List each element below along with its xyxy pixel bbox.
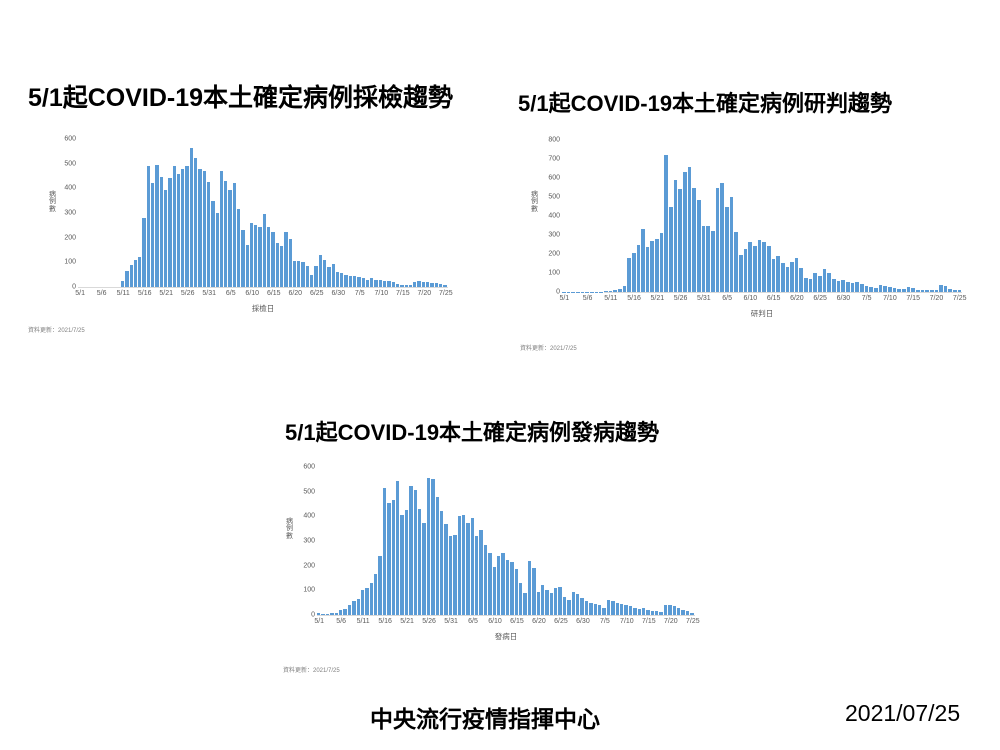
- bar: [443, 285, 447, 287]
- x-tick-label: 7/5: [600, 618, 610, 625]
- x-tick-label: 7/20: [930, 295, 944, 302]
- plot-sampling: [78, 139, 448, 288]
- y-tick-label: 400: [64, 185, 76, 192]
- x-tick-label: 6/25: [554, 618, 568, 625]
- y-tick-label: 400: [303, 513, 315, 520]
- x-tick-label: 6/15: [510, 618, 524, 625]
- y-tick-label: 300: [548, 232, 560, 239]
- x-tick-label: 5/21: [159, 290, 173, 297]
- slide-footer-organization: 中央流行疫情指揮中心: [370, 700, 600, 734]
- x-tick-label: 7/5: [862, 295, 872, 302]
- x-tick-label: 5/11: [117, 290, 130, 297]
- y-tick-label: 500: [548, 194, 560, 201]
- x-axis-label-determination: 研判日: [562, 308, 962, 319]
- footnote-determination: 資料更新：2021/7/25: [520, 343, 577, 352]
- y-tick-label: 600: [548, 175, 560, 182]
- x-tick-label: 7/5: [355, 290, 365, 297]
- chart-panel-onset: 5/1起COVID-19本土確定病例發病趨勢 病例數 0100200300400…: [265, 415, 745, 695]
- x-tick-label: 5/1: [559, 295, 569, 302]
- x-tick-label: 7/10: [620, 618, 634, 625]
- footnote-onset: 資料更新：2021/7/25: [283, 665, 340, 674]
- x-tick-label: 5/1: [75, 290, 85, 297]
- chart-title-determination: 5/1起COVID-19本土確定病例研判趨勢: [518, 86, 892, 118]
- x-tick-label: 5/11: [604, 295, 617, 302]
- x-tick-label: 6/10: [245, 290, 259, 297]
- x-tick-label: 6/10: [488, 618, 502, 625]
- y-tick-label: 100: [548, 270, 560, 277]
- x-tick-label: 6/5: [722, 295, 732, 302]
- x-tick-label: 5/1: [314, 618, 324, 625]
- chart-panel-determination: 5/1起COVID-19本土確定病例研判趨勢 病例數 0100200300400…: [508, 78, 988, 358]
- y-tick-label: 600: [303, 464, 315, 471]
- bar: [690, 613, 694, 615]
- x-axis-label-onset: 發病日: [317, 631, 695, 642]
- x-tick-label: 6/5: [226, 290, 236, 297]
- x-axis-ticks-sampling: 5/15/65/115/165/215/265/316/56/106/156/2…: [78, 288, 448, 300]
- bar-series-determination: [562, 140, 962, 292]
- x-tick-label: 7/25: [686, 618, 700, 625]
- x-tick-label: 5/16: [138, 290, 152, 297]
- x-tick-label: 6/25: [813, 295, 827, 302]
- x-tick-label: 5/6: [336, 618, 346, 625]
- x-tick-label: 5/31: [202, 290, 216, 297]
- x-tick-label: 5/6: [97, 290, 107, 297]
- y-tick-label: 200: [303, 562, 315, 569]
- x-tick-label: 6/25: [310, 290, 324, 297]
- y-tick-label: 800: [548, 137, 560, 144]
- y-tick-label: 500: [64, 160, 76, 167]
- y-tick-label: 300: [303, 538, 315, 545]
- y-tick-label: 400: [548, 213, 560, 220]
- x-tick-label: 7/10: [883, 295, 897, 302]
- x-tick-label: 6/20: [790, 295, 804, 302]
- footnote-sampling: 資料更新：2021/7/25: [28, 325, 85, 334]
- x-tick-label: 7/20: [664, 618, 678, 625]
- y-tick-label: 200: [548, 251, 560, 258]
- x-tick-label: 5/26: [181, 290, 195, 297]
- x-tick-label: 7/15: [642, 618, 656, 625]
- x-tick-label: 5/26: [422, 618, 436, 625]
- x-tick-label: 7/15: [906, 295, 920, 302]
- x-tick-label: 5/11: [357, 618, 370, 625]
- x-axis-ticks-determination: 5/15/65/115/165/215/265/316/56/106/156/2…: [562, 293, 962, 305]
- chart-title-onset: 5/1起COVID-19本土確定病例發病趨勢: [285, 415, 659, 447]
- chart-area-onset: 病例數 0100200300400500600 5/15/65/115/165/…: [275, 463, 705, 653]
- x-tick-label: 6/30: [837, 295, 851, 302]
- bar: [958, 290, 963, 292]
- x-tick-label: 7/15: [396, 290, 410, 297]
- y-tick-label: 300: [64, 210, 76, 217]
- x-tick-label: 6/5: [468, 618, 478, 625]
- x-tick-label: 7/25: [439, 290, 453, 297]
- y-axis-ticks-sampling: 0100200300400500600: [52, 139, 78, 287]
- x-tick-label: 6/30: [331, 290, 345, 297]
- slide-root: 5/1起COVID-19本土確定病例採檢趨勢 病例數 0100200300400…: [0, 0, 1000, 750]
- x-tick-label: 5/31: [697, 295, 711, 302]
- x-tick-label: 6/15: [767, 295, 781, 302]
- x-tick-label: 7/25: [953, 295, 967, 302]
- x-tick-label: 6/30: [576, 618, 590, 625]
- plot-onset: [317, 467, 695, 616]
- x-axis-ticks-onset: 5/15/65/115/165/215/265/316/56/106/156/2…: [317, 616, 695, 628]
- chart-area-determination: 病例數 0100200300400500600700800 5/15/65/11…: [528, 136, 978, 326]
- y-axis-ticks-determination: 0100200300400500600700800: [536, 140, 562, 292]
- x-tick-label: 7/20: [418, 290, 432, 297]
- x-tick-label: 6/10: [744, 295, 758, 302]
- x-tick-label: 5/16: [627, 295, 641, 302]
- y-tick-label: 200: [64, 234, 76, 241]
- x-tick-label: 6/20: [532, 618, 546, 625]
- y-tick-label: 700: [548, 156, 560, 163]
- y-axis-ticks-onset: 0100200300400500600: [291, 467, 317, 615]
- y-tick-label: 100: [64, 259, 76, 266]
- x-tick-label: 5/31: [444, 618, 458, 625]
- y-tick-label: 100: [303, 587, 315, 594]
- x-tick-label: 5/16: [378, 618, 392, 625]
- x-tick-label: 6/20: [288, 290, 302, 297]
- slide-footer-date: 2021/07/25: [845, 700, 960, 727]
- bar-series-sampling: [78, 139, 448, 287]
- x-tick-label: 5/21: [651, 295, 665, 302]
- y-tick-label: 600: [64, 136, 76, 143]
- y-tick-label: 500: [303, 488, 315, 495]
- x-axis-label-sampling: 採檢日: [78, 303, 448, 314]
- chart-title-sampling: 5/1起COVID-19本土確定病例採檢趨勢: [28, 78, 453, 114]
- x-tick-label: 5/21: [400, 618, 414, 625]
- chart-area-sampling: 病例數 0100200300400500600 5/15/65/115/165/…: [48, 133, 468, 323]
- bar-series-onset: [317, 467, 695, 615]
- x-tick-label: 5/6: [583, 295, 593, 302]
- plot-determination: [562, 140, 962, 293]
- chart-panel-sampling: 5/1起COVID-19本土確定病例採檢趨勢 病例數 0100200300400…: [18, 78, 488, 348]
- x-tick-label: 7/10: [375, 290, 389, 297]
- x-tick-label: 6/15: [267, 290, 281, 297]
- x-tick-label: 5/26: [674, 295, 688, 302]
